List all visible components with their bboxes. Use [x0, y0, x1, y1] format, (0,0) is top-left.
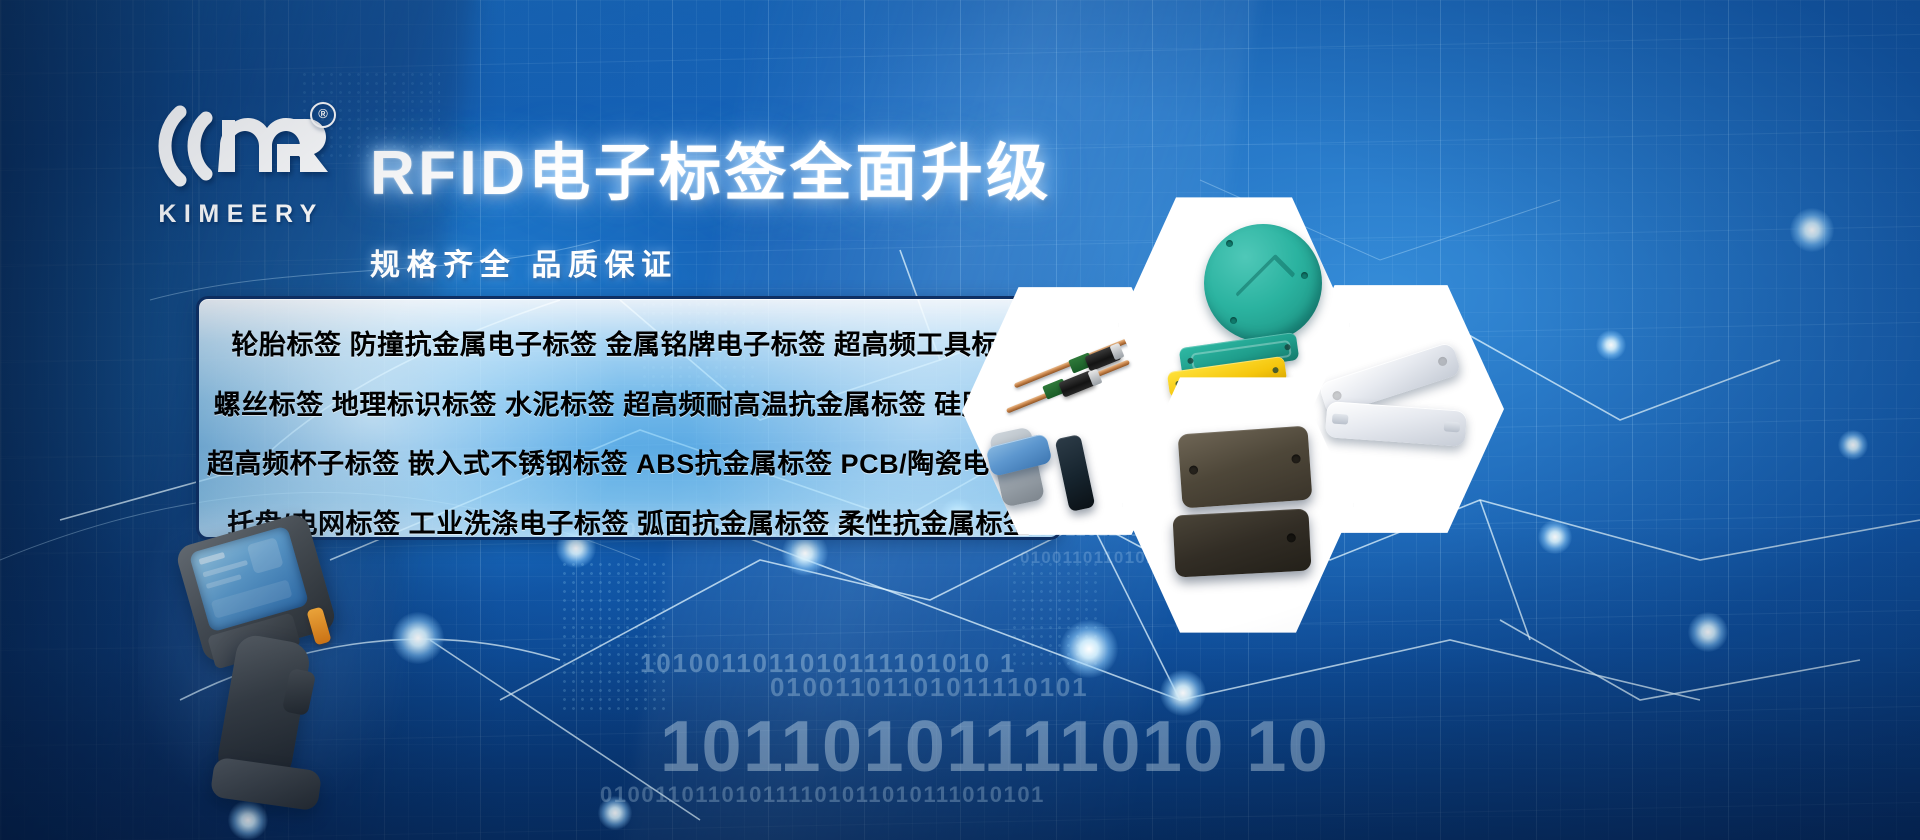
background-vignette	[0, 0, 1920, 840]
rfid-promo-banner: 01001101101011110101 0100110110101111010…	[0, 0, 1920, 840]
